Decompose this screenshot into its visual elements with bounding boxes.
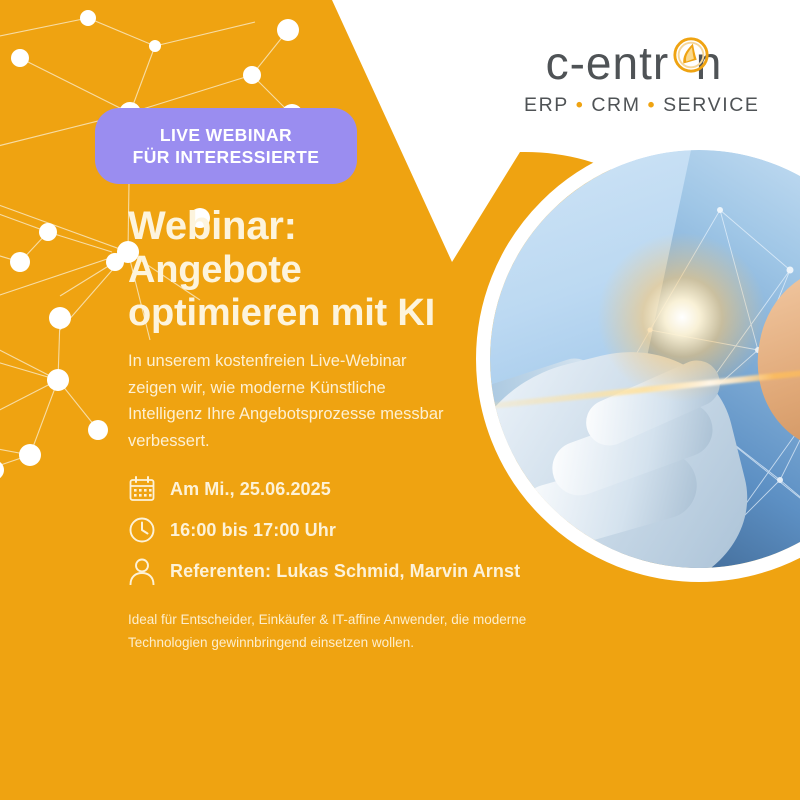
- detail-row-time: 16:00 bis 17:00 Uhr: [128, 511, 598, 549]
- footnote-text: Ideal für Entscheider, Einkäufer & IT-af…: [128, 608, 608, 654]
- detail-time-text: 16:00 bis 17:00 Uhr: [170, 520, 336, 541]
- event-details: Am Mi., 25.06.2025 16:00 bis 17:00 Uhr R…: [128, 470, 598, 593]
- logo-subtitle: ERP • CRM • SERVICE: [524, 94, 744, 117]
- detail-speakers-text: Referenten: Lukas Schmid, Marvin Arnst: [170, 561, 520, 582]
- c-entron-flame-mark: [672, 36, 710, 74]
- person-icon: [128, 557, 156, 585]
- detail-date-text: Am Mi., 25.06.2025: [170, 479, 331, 500]
- headline-line-3: optimieren mit KI: [128, 292, 548, 335]
- badge-line-1: LIVE WEBINAR: [160, 124, 292, 146]
- logo-sub-dot: •: [641, 94, 663, 116]
- detail-row-speakers: Referenten: Lukas Schmid, Marvin Arnst: [128, 552, 598, 590]
- c-entron-logo: c-entron ERP • CRM • SERVICE: [524, 40, 744, 117]
- calendar-icon: [128, 475, 156, 503]
- logo-wordmark: c-entron: [524, 40, 744, 86]
- logo-word-prefix: c-entr: [546, 37, 670, 89]
- badge-line-2: FÜR INTERESSIERTE: [133, 146, 320, 168]
- logo-sub-service: SERVICE: [663, 94, 759, 116]
- clock-icon: [128, 516, 156, 544]
- intro-paragraph: In unserem kostenfreien Live-Webinar zei…: [128, 348, 458, 455]
- logo-sub-dot: •: [569, 94, 591, 116]
- logo-sub-erp: ERP: [524, 94, 569, 116]
- page-title: Webinar: Angebote optimieren mit KI: [128, 204, 548, 335]
- detail-row-date: Am Mi., 25.06.2025: [128, 470, 598, 508]
- webinar-poster: c-entron ERP • CRM • SERVICE LIVE WEBINA…: [0, 0, 800, 800]
- headline-line-2: Angebote: [128, 249, 548, 292]
- logo-sub-crm: CRM: [591, 94, 640, 116]
- headline-line-1: Webinar:: [128, 204, 548, 249]
- live-webinar-badge: LIVE WEBINAR FÜR INTERESSIERTE: [95, 108, 357, 184]
